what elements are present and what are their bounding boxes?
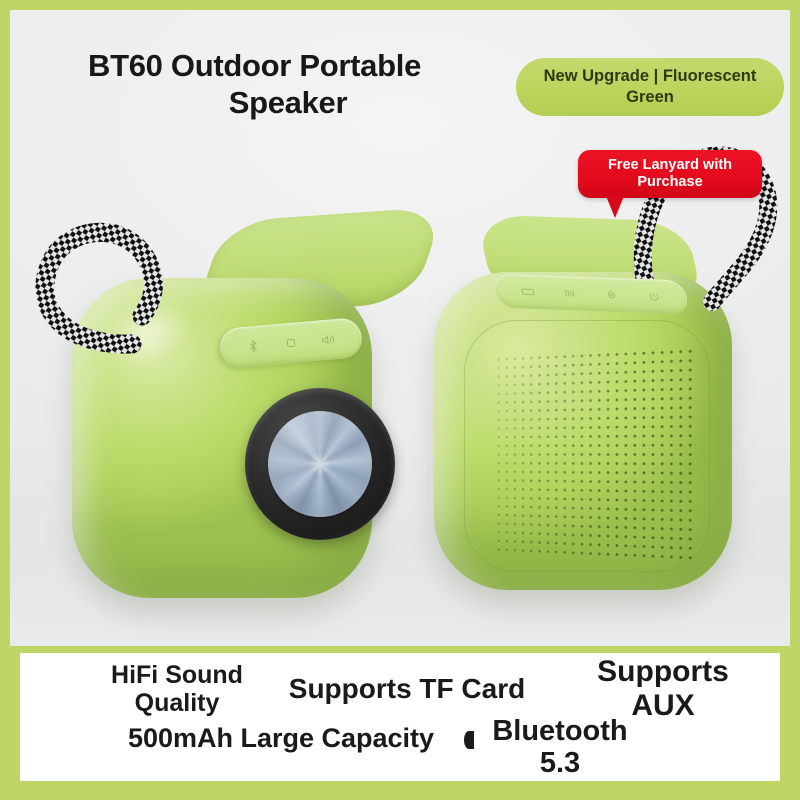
feature-hifi-sound-quality: HiFi Sound Quality xyxy=(92,661,262,717)
title-line-1: BT60 Outdoor Portable xyxy=(88,48,488,85)
bluetooth-icon[interactable] xyxy=(244,339,263,355)
port-panel[interactable] xyxy=(492,274,691,315)
product-poster: BT60 Outdoor Portable Speaker New Upgrad… xyxy=(0,0,800,800)
grille-perforation-pattern xyxy=(495,346,696,561)
volume-icon[interactable] xyxy=(319,332,338,348)
upgrade-badge: New Upgrade | Fluorescent Green xyxy=(516,58,784,116)
feature-supports-tf-card: Supports TF Card xyxy=(282,673,532,704)
stop-square-icon[interactable] xyxy=(281,335,300,351)
feature-battery-capacity: 500mAh Large Capacity xyxy=(116,723,446,753)
lanyard-promo-badge: Free Lanyard with Purchase xyxy=(578,150,762,198)
driver-cone xyxy=(268,411,372,517)
feature-bluetooth-version: Bluetooth 5.3 xyxy=(470,715,650,780)
aux-jack-icon[interactable] xyxy=(603,288,621,301)
lanyard-left xyxy=(20,196,200,366)
title-line-2: Speaker xyxy=(88,85,488,122)
speech-bubble-tail-icon xyxy=(606,196,624,218)
speaker-grille-panel xyxy=(464,320,710,572)
power-icon[interactable] xyxy=(645,290,663,303)
usb-port-icon[interactable] xyxy=(519,286,537,299)
feature-list-panel: HiFi Sound Quality Supports TF Card Supp… xyxy=(20,653,780,781)
product-photo-area: BT60 Outdoor Portable Speaker New Upgrad… xyxy=(10,10,790,646)
speaker-driver xyxy=(245,388,395,540)
feature-supports-aux: Supports AUX xyxy=(568,655,758,722)
tf-card-slot-icon[interactable] xyxy=(561,287,579,300)
page-title: BT60 Outdoor Portable Speaker xyxy=(88,48,488,121)
lanyard-promo-label: Free Lanyard with Purchase xyxy=(578,150,762,198)
